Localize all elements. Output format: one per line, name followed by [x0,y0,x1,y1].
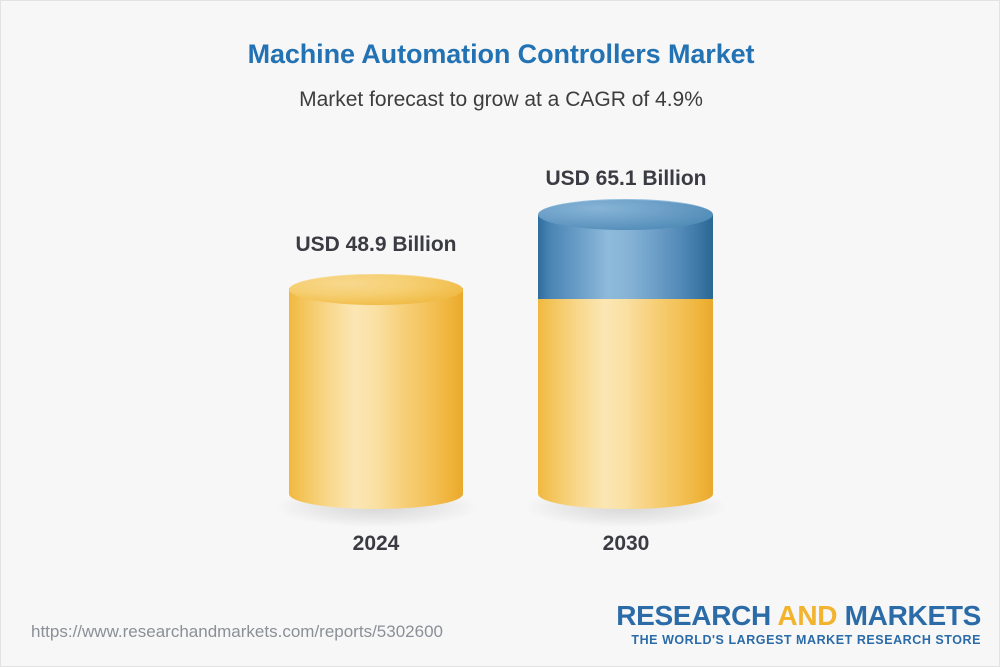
cylinder-2030[interactable] [538,199,713,509]
logo-word-research: RESEARCH [616,600,777,631]
research-and-markets-logo[interactable]: RESEARCH AND MARKETS THE WORLD'S LARGEST… [616,601,981,647]
cylinder-2024-body [289,288,463,509]
category-label-2024: 2024 [286,532,466,556]
category-label-2030: 2030 [536,532,716,556]
plot-area: USD 48.9 Billion 2024 USD 65.1 Billion 2… [1,1,1000,667]
logo-word-markets: MARKETS [845,600,981,631]
report-url[interactable]: https://www.researchandmarkets.com/repor… [31,622,443,642]
logo-word-and: AND [777,600,844,631]
logo-tagline: THE WORLD'S LARGEST MARKET RESEARCH STOR… [616,633,981,647]
cylinder-2030-segment-yellow [538,299,713,509]
cylinder-2030-body-yellow [538,299,713,509]
chart-canvas: Machine Automation Controllers Market Ma… [0,0,1000,667]
value-label-2024: USD 48.9 Billion [286,233,466,257]
value-label-2030: USD 65.1 Billion [536,167,716,191]
cylinder-2024-top-cap [289,274,463,305]
cylinder-2024-segment-yellow [289,288,463,509]
cylinder-2030-top-cap [538,199,713,230]
cylinder-2024[interactable] [289,274,463,509]
logo-wordmark: RESEARCH AND MARKETS [616,601,981,630]
